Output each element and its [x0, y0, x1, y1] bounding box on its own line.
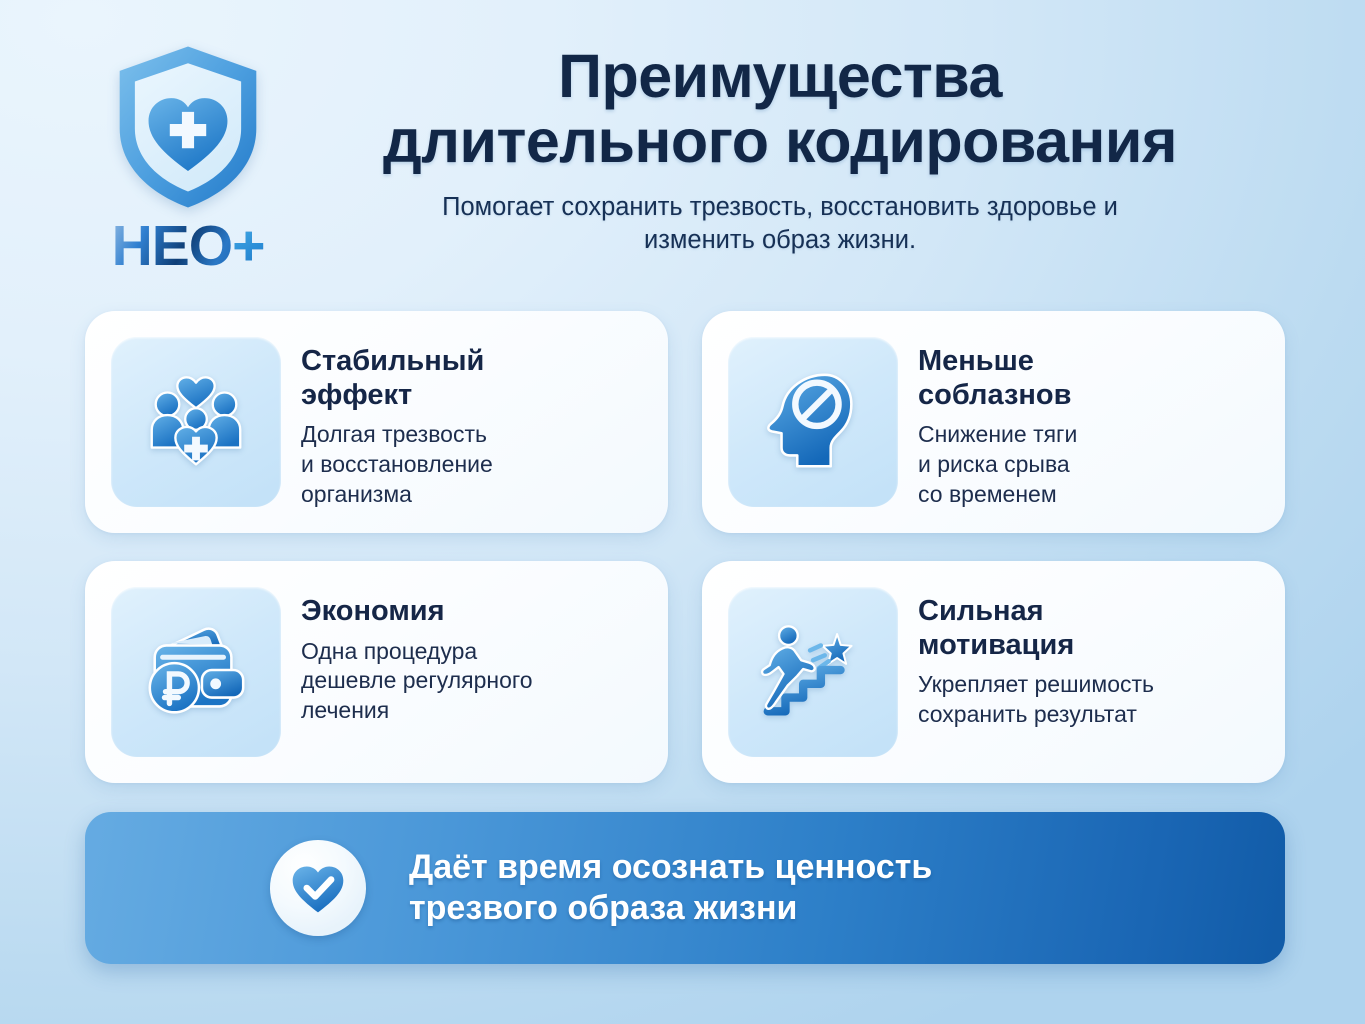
banner-text: Даёт время осознать ценность трезвого об… [409, 847, 932, 930]
icon-tile [111, 337, 281, 507]
card-body: Укрепляет решимость сохранить результат [918, 670, 1154, 729]
brand-wordmark-text: НЕО [112, 214, 233, 278]
card-body: Долгая трезвость и восстановление органи… [301, 420, 493, 509]
page-title-line-1: Преимущества [558, 42, 1002, 110]
card-heading: Экономия [301, 595, 533, 629]
card-text: Стабильный эффект Долгая трезвость и вос… [301, 337, 493, 509]
brand-wordmark-plus: + [232, 214, 264, 278]
family-heart-cross-icon [137, 363, 255, 481]
page-title: Преимущества длительного кодирования [270, 44, 1290, 175]
card-text: Сильная мотивация Укрепляет решимость со… [918, 587, 1154, 730]
card-heading: Меньше соблазнов [918, 345, 1077, 412]
card-text: Экономия Одна процедура дешевле регулярн… [301, 587, 533, 726]
benefit-card-stable-effect: Стабильный эффект Долгая трезвость и вос… [85, 311, 668, 533]
card-body: Снижение тяги и риска срыва со временем [918, 420, 1077, 509]
banner-badge [270, 840, 366, 936]
summary-banner: Даёт время осознать ценность трезвого об… [85, 812, 1285, 964]
head-prohibition-icon [754, 363, 872, 481]
stairs-star-person-icon [754, 613, 872, 731]
card-body: Одна процедура дешевле регулярного лечен… [301, 637, 533, 726]
card-heading: Стабильный эффект [301, 345, 493, 412]
benefit-card-fewer-temptations: Меньше соблазнов Снижение тяги и риска с… [702, 311, 1285, 533]
page-subtitle: Помогает сохранить трезвость, восстанови… [410, 191, 1150, 259]
benefit-card-motivation: Сильная мотивация Укрепляет решимость со… [702, 561, 1285, 783]
brand-logo: НЕО+ [78, 42, 298, 292]
page-title-line-2: длительного кодирования [383, 107, 1177, 175]
icon-tile [728, 337, 898, 507]
shield-heart-cross-icon [112, 42, 264, 212]
infographic-poster: НЕО+ Преимущества длительного кодировани… [0, 0, 1365, 1024]
benefit-card-savings: Экономия Одна процедура дешевле регулярн… [85, 561, 668, 783]
icon-tile [111, 587, 281, 757]
wallet-ruble-icon [137, 613, 255, 731]
brand-wordmark: НЕО+ [112, 218, 265, 275]
header: НЕО+ Преимущества длительного кодировани… [0, 0, 1365, 300]
heart-check-icon [288, 858, 348, 918]
card-text: Меньше соблазнов Снижение тяги и риска с… [918, 337, 1077, 509]
card-heading: Сильная мотивация [918, 595, 1154, 662]
icon-tile [728, 587, 898, 757]
title-block: Преимущества длительного кодирования Пом… [270, 44, 1290, 258]
benefit-card-grid: Стабильный эффект Долгая трезвость и вос… [85, 311, 1285, 783]
